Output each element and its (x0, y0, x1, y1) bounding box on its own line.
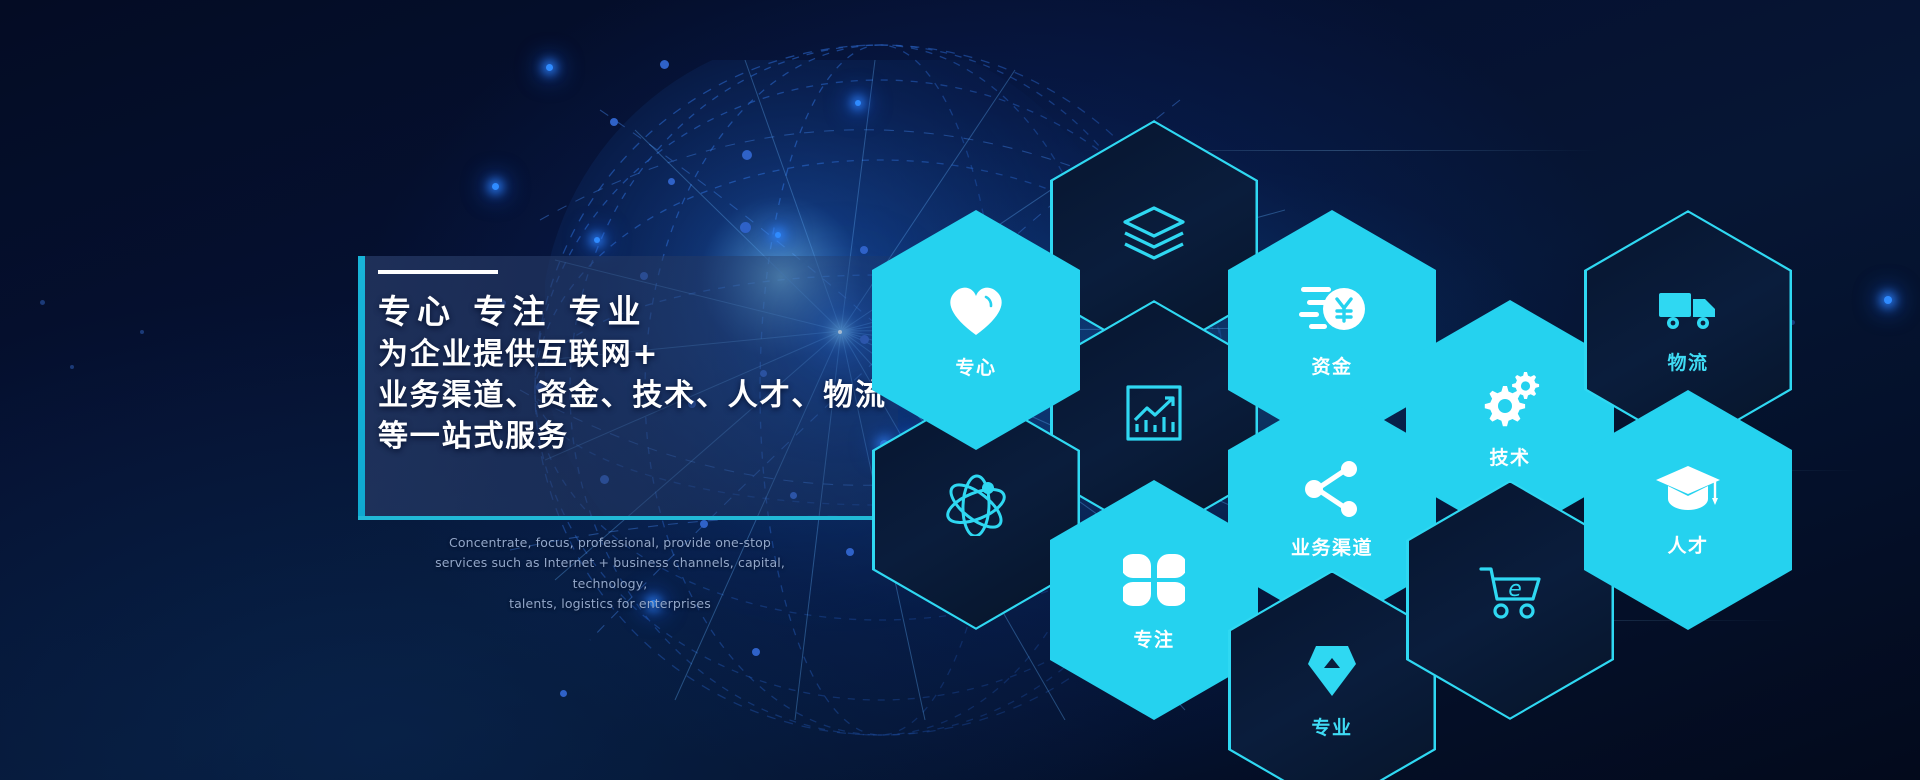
network-dot (70, 365, 74, 369)
network-dot (700, 520, 708, 528)
subtitle-line-1: Concentrate, focus, professional, provid… (400, 533, 820, 553)
network-dot (660, 60, 669, 69)
network-dot (742, 150, 752, 160)
network-dot (40, 300, 45, 305)
clover-icon (1123, 548, 1185, 615)
subtitle-block: Concentrate, focus, professional, provid… (400, 533, 820, 614)
atom-icon (940, 470, 1012, 541)
hex-focus-heart[interactable]: 专心 (872, 210, 1080, 450)
svg-text:e: e (1508, 577, 1522, 602)
hex-label: 专业 (1311, 713, 1352, 740)
gears-icon (1479, 370, 1541, 433)
hex-label: 专心 (955, 353, 996, 380)
truck-icon (1657, 285, 1719, 338)
share-nodes-icon (1301, 460, 1363, 523)
network-dot (860, 246, 868, 254)
network-dot (752, 648, 760, 656)
network-dot (610, 118, 618, 126)
network-dot (846, 548, 854, 556)
subtitle-line-2: services such as Internet + business cha… (400, 553, 820, 594)
diamond-icon (1304, 640, 1360, 703)
headline-line-2: 为企业提供互联网+ (378, 334, 938, 375)
network-dot (775, 232, 781, 238)
hex-label: 专注 (1133, 625, 1174, 652)
hex-label: 资金 (1311, 352, 1352, 379)
network-dot (740, 222, 751, 233)
network-dot (492, 183, 499, 190)
hex-professional[interactable]: 专业 (1228, 570, 1436, 780)
hex-label: 技术 (1489, 443, 1530, 470)
hex-label: 人才 (1667, 531, 1708, 558)
network-dot (560, 690, 567, 697)
graduation-cap-icon (1654, 462, 1722, 521)
network-dot (855, 100, 861, 106)
yen-coin-icon (1297, 281, 1367, 342)
layers-icon (1119, 202, 1189, 269)
subtitle-line-3: talents, logistics for enterprises (400, 594, 820, 614)
hex-talent[interactable]: 人才 (1584, 390, 1792, 630)
network-dot (594, 237, 600, 243)
banner-stage: 专心 专注 专业 为企业提供互联网+ 业务渠道、资金、技术、人才、物流 等一站式… (0, 0, 1920, 780)
hexagon-cluster: 专心 专注 (900, 120, 1910, 660)
headline-rule (378, 270, 498, 274)
e-cart-icon: e (1475, 563, 1545, 628)
growth-chart-icon (1123, 382, 1185, 449)
headline-line-1: 专心 专注 专业 (378, 290, 938, 334)
hex-ecommerce-cart[interactable]: e (1406, 480, 1614, 720)
headline-line-4: 等一站式服务 (378, 416, 938, 457)
headline-block: 专心 专注 专业 为企业提供互联网+ 业务渠道、资金、技术、人才、物流 等一站式… (378, 270, 938, 458)
heart-icon (944, 280, 1008, 343)
network-dot (668, 178, 675, 185)
headline-line-3: 业务渠道、资金、技术、人才、物流 (378, 375, 938, 416)
network-dot (140, 330, 144, 334)
hex-label: 物流 (1667, 348, 1708, 375)
network-dot (546, 64, 553, 71)
hex-label: 业务渠道 (1291, 533, 1373, 560)
